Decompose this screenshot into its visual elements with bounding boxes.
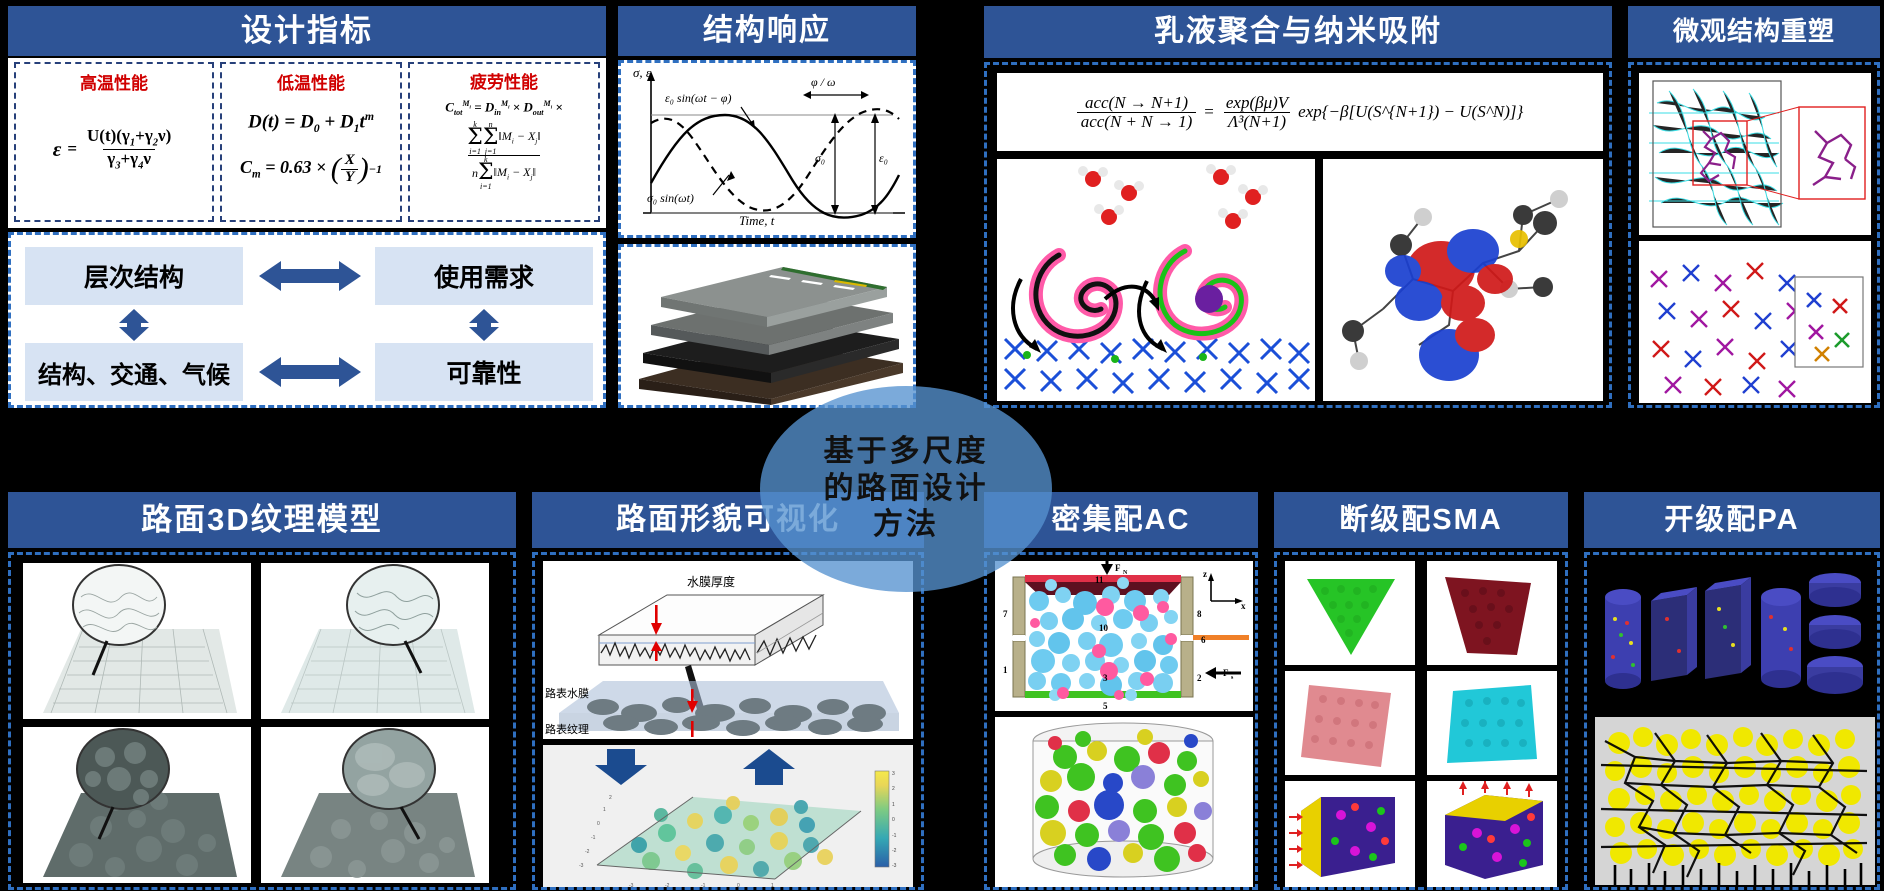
- chart-x-axis-label: Time, t: [739, 213, 774, 229]
- svg-text:-1: -1: [892, 833, 897, 839]
- subpanel-low-temperature-label: 低温性能: [222, 69, 400, 94]
- formula-low-temperature-2: Cm = 0.63 × ( XY ) −1: [222, 152, 400, 186]
- svg-text:-2: -2: [892, 848, 897, 854]
- panel-open-pa-title: 开级配PA: [1584, 492, 1880, 548]
- subpanel-fatigue: 疲劳性能 CtotMi = DinMi × DoutMi × k Σ i=1: [408, 62, 600, 222]
- poster-root: 设计指标 高温性能 ε = U(t)(γ1+γ2ν) γ3+γ4ν 低温性能 D…: [0, 0, 1884, 891]
- flowbox-service-demand: 使用需求: [375, 247, 593, 305]
- emulsion-body: acc(N → N+1) acc(N + N → 1) = exp(βμ)V Λ…: [984, 62, 1612, 408]
- pavement-layer-illustration: [621, 247, 913, 405]
- subpanel-high-temperature-label: 高温性能: [16, 69, 212, 94]
- svg-text:-2: -2: [585, 849, 590, 855]
- arrow-bottom-horizontal: [259, 355, 361, 389]
- svg-text:-2: -2: [665, 883, 670, 887]
- panel-structural-response-title: 结构响应: [618, 6, 916, 56]
- microstructure-body: [1628, 62, 1880, 408]
- chart-annotation-strain: ε₀ sin(ωt − φ): [665, 91, 731, 106]
- label-surface-texture: 路表纹理: [545, 721, 589, 737]
- chart-y-axis-label: σ, ε: [633, 65, 651, 81]
- formula-fatigue-head: CtotMi = DinMi × DoutMi ×: [410, 99, 598, 117]
- texture-tile-dark-1: [23, 727, 251, 883]
- formula-low-temperature-1: D(t) = D0 + D1tm: [222, 110, 400, 136]
- structural-response-chart-frame: σ, ε ε₀ sin(ωt − φ) σ₀ sin(ωt) φ / ω σ₀ …: [618, 60, 916, 238]
- surface-plot-3d: -3-2-1 012 -3-2-1 01: [543, 745, 913, 887]
- monte-carlo-formula: acc(N → N+1) acc(N + N → 1) = exp(βμ)V Λ…: [1077, 94, 1524, 131]
- arrow-right-vertical: [467, 309, 501, 341]
- molecular-orbital-image: [1323, 159, 1603, 401]
- label-surface-water-film: 路表水膜: [545, 685, 589, 701]
- texture-tile-light-2: [261, 563, 489, 719]
- svg-text:2: 2: [1197, 673, 1202, 683]
- svg-text:-1: -1: [701, 883, 706, 887]
- svg-text:-1: -1: [591, 835, 596, 841]
- panel-gap-sma: 断级配SMA: [1266, 486, 1572, 891]
- panel-design-index: 设计指标 高温性能 ε = U(t)(γ1+γ2ν) γ3+γ4ν 低温性能 D…: [0, 0, 610, 408]
- svg-text:F: F: [1223, 668, 1229, 678]
- stress-strain-chart: [621, 63, 913, 235]
- svg-text:3: 3: [1103, 673, 1108, 683]
- sma-darkred-cone-image: [1427, 561, 1557, 665]
- gap-sma-body: [1274, 552, 1568, 890]
- svg-text:1: 1: [771, 883, 774, 887]
- center-title-line-3: 方法: [824, 507, 989, 544]
- chart-annotation-stress: σ₀ sin(ωt): [647, 191, 694, 206]
- flowbox-structure-traffic-climate: 结构、交通、气候: [25, 343, 243, 401]
- subpanel-low-temperature: 低温性能 D(t) = D0 + D1tm Cm = 0.63 × ( XY )…: [220, 62, 402, 222]
- panel-gap-sma-title: 断级配SMA: [1274, 492, 1568, 548]
- panel-texture-3d: 路面3D纹理模型: [0, 486, 520, 891]
- center-title-ellipse: 基于多尺度 的路面设计 方法: [760, 386, 1052, 592]
- svg-text:8: 8: [1197, 609, 1202, 619]
- svg-text:6: 6: [1201, 635, 1206, 645]
- mc-equals: =: [1204, 102, 1214, 122]
- formula-fatigue-ratio: k Σ i=1 n Σ j=1 ‖Mi − Xj‖: [410, 121, 598, 190]
- chart-annotation-phase-lag: φ / ω: [811, 75, 835, 90]
- pavement-layer-photo-frame: [618, 244, 916, 408]
- svg-text:0: 0: [892, 817, 895, 823]
- svg-text:-3: -3: [629, 883, 634, 887]
- mc-lhs-numerator: acc(N → N+1): [1081, 94, 1192, 112]
- svg-text:0: 0: [597, 821, 600, 827]
- svg-text:0: 0: [737, 883, 740, 887]
- mc-rhs-denominator: Λ³(N+1): [1224, 112, 1290, 131]
- molecular-packing-image: [1639, 241, 1871, 403]
- panel-structural-response: 结构响应: [610, 0, 920, 408]
- sma-cyan-block-image: [1427, 671, 1557, 775]
- svg-text:x: x: [1241, 601, 1246, 611]
- svg-text:7: 7: [1003, 609, 1008, 619]
- pa-specimen-set-image: [1595, 561, 1875, 711]
- svg-text:3: 3: [892, 771, 895, 777]
- sma-green-cone-image: [1285, 561, 1415, 665]
- panel-open-pa: 开级配PA: [1576, 486, 1884, 891]
- svg-text:5: 5: [1103, 701, 1108, 711]
- panel-emulsion-polymerization: 乳液聚合与纳米吸附 acc(N → N+1) acc(N + N → 1) = …: [976, 0, 1616, 408]
- flowbox-reliability-label: 可靠性: [446, 354, 521, 390]
- arrow-top-horizontal: [259, 259, 361, 293]
- svg-text:10: 10: [1099, 623, 1109, 633]
- design-index-flowchart: 层次结构 使用需求 结构、交通、气候 可靠性: [8, 232, 606, 408]
- svg-text:-3: -3: [579, 863, 584, 869]
- dense-ac-body: FN Fs zx 78 12 35 61011: [984, 552, 1258, 890]
- panel-design-index-title: 设计指标: [8, 6, 606, 56]
- flowbox-service-demand-label: 使用需求: [434, 258, 534, 294]
- svg-text:2: 2: [609, 795, 612, 801]
- label-film-thickness: 水膜厚度: [687, 573, 735, 590]
- sma-stress-block-right-image: [1427, 781, 1557, 887]
- subpanel-fatigue-label: 疲劳性能: [410, 68, 598, 93]
- void-network-image: [1595, 717, 1875, 885]
- svg-text:11: 11: [1095, 575, 1104, 585]
- svg-text:-3: -3: [892, 863, 897, 869]
- texture-3d-body: [8, 552, 516, 890]
- micelle-adsorption-image: [997, 159, 1315, 401]
- flowbox-hierarchy: 层次结构: [25, 247, 243, 305]
- center-title-line-2: 的路面设计: [824, 471, 989, 508]
- chart-annotation-sigma0: σ₀: [815, 151, 825, 166]
- svg-text:2: 2: [892, 786, 895, 792]
- dem-shear-box-image: FN Fs zx 78 12 35 61011: [995, 561, 1253, 711]
- water-film-schematic: 水膜厚度 路表水膜 路表纹理: [543, 561, 913, 739]
- flowbox-reliability: 可靠性: [375, 343, 593, 401]
- formula-high-temperature: ε = U(t)(γ1+γ2ν) γ3+γ4ν: [16, 94, 212, 204]
- subpanel-high-temperature: 高温性能 ε = U(t)(γ1+γ2ν) γ3+γ4ν: [14, 62, 214, 222]
- chart-annotation-eps0: ε₀: [879, 151, 888, 166]
- sma-pink-block-image: [1285, 671, 1415, 775]
- panel-emulsion-polymerization-title: 乳液聚合与纳米吸附: [984, 6, 1612, 58]
- flowbox-structure-traffic-climate-label: 结构、交通、气候: [38, 355, 230, 390]
- svg-text:N: N: [1123, 570, 1128, 576]
- panel-texture-3d-title: 路面3D纹理模型: [8, 492, 516, 548]
- svg-text:1: 1: [603, 807, 606, 813]
- mc-lhs-denominator: acc(N + N → 1): [1077, 112, 1197, 131]
- texture-tile-dark-2: [261, 727, 489, 883]
- panel-microstructure-title: 微观结构重塑: [1628, 6, 1880, 58]
- texture-tile-light-1: [23, 563, 251, 719]
- mc-tail: exp{−β[U(S^{N+1}) − U(S^N)]}: [1298, 102, 1523, 122]
- arrow-left-vertical: [117, 309, 151, 341]
- design-index-formula-strip: 高温性能 ε = U(t)(γ1+γ2ν) γ3+γ4ν 低温性能 D(t) =…: [8, 58, 606, 228]
- center-title-lines: 基于多尺度 的路面设计 方法: [824, 434, 989, 544]
- panel-microstructure: 微观结构重塑: [1620, 0, 1884, 408]
- sma-stress-block-left-image: [1285, 781, 1415, 887]
- svg-text:1: 1: [1003, 665, 1008, 675]
- polymer-network-cell-image: [1639, 73, 1871, 235]
- monte-carlo-formula-card: acc(N → N+1) acc(N + N → 1) = exp(βμ)V Λ…: [997, 73, 1603, 151]
- flowbox-hierarchy-label: 层次结构: [84, 258, 184, 294]
- morphology-body: 水膜厚度 路表水膜 路表纹理: [532, 552, 924, 890]
- svg-text:1: 1: [892, 802, 895, 808]
- ac-specimen-cylinder-image: [995, 717, 1253, 887]
- svg-text:z: z: [1203, 569, 1207, 579]
- open-pa-body: [1584, 552, 1880, 890]
- svg-text:F: F: [1115, 563, 1121, 573]
- center-title-line-1: 基于多尺度: [824, 434, 989, 471]
- mc-rhs-numerator: exp(βμ)V: [1222, 94, 1292, 112]
